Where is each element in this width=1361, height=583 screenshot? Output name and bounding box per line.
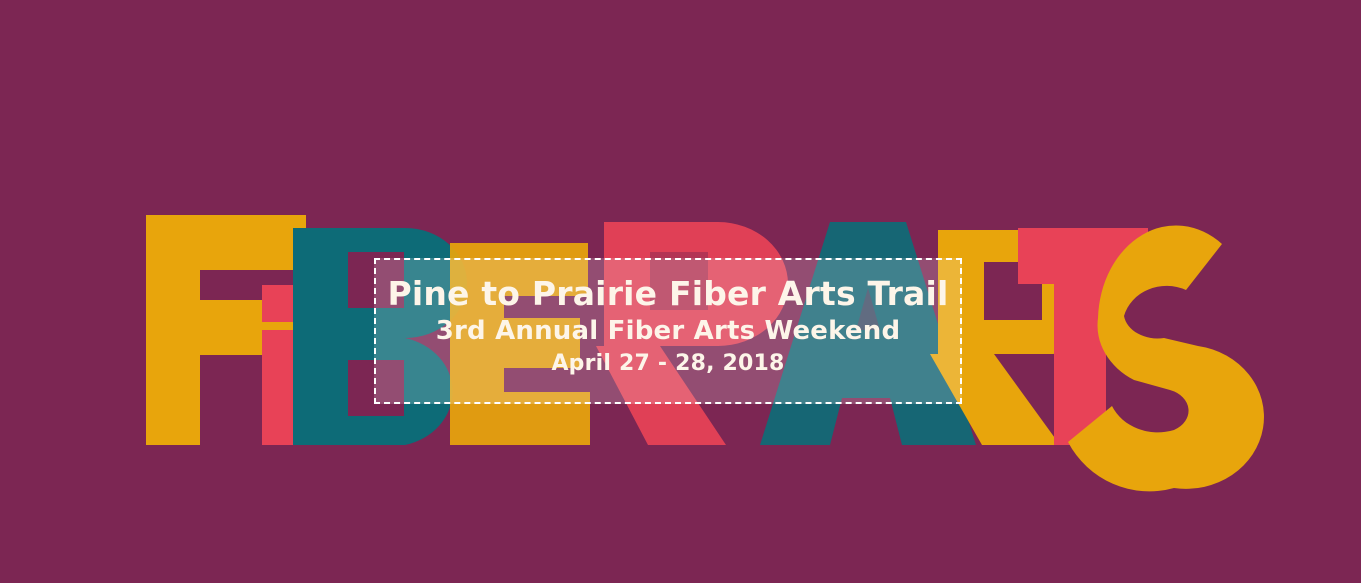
fiber-arts-banner: Pine to Prairie Fiber Arts Trail 3rd Ann… <box>0 0 1361 583</box>
event-info-overlay: Pine to Prairie Fiber Arts Trail 3rd Ann… <box>374 258 962 404</box>
event-title: Pine to Prairie Fiber Arts Trail <box>387 274 948 314</box>
event-date: April 27 - 28, 2018 <box>551 348 784 380</box>
event-subtitle: 3rd Annual Fiber Arts Weekend <box>436 314 901 348</box>
